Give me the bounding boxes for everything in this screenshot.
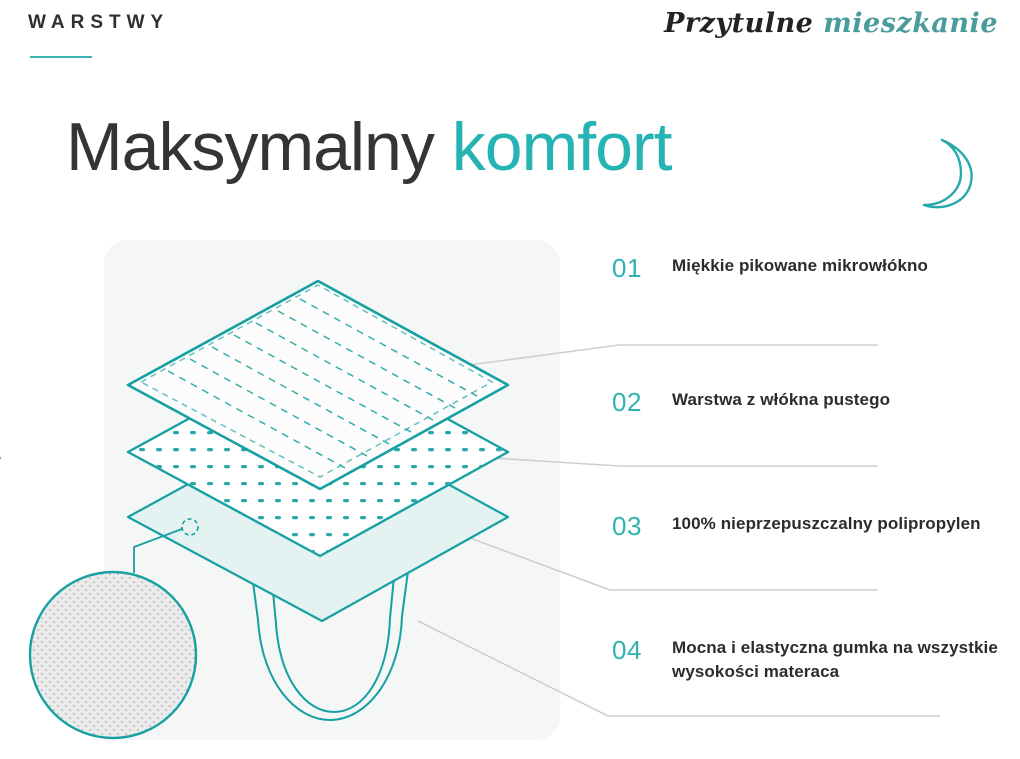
tagline: Przytulne mieszkanie [664, 8, 998, 39]
page-title-dark: Maksymalny [66, 109, 434, 185]
list-item-text: Mocna i elastyczna gumka na wszystkie wy… [672, 636, 1008, 684]
list-item-text: 100% nieprzepuszczalny polipropylen [672, 512, 981, 536]
diagram-panel [104, 240, 560, 740]
list-item-text: Miękkie pikowane mikrowłókno [672, 254, 928, 278]
tagline-part-two: mieszkanie [823, 8, 998, 39]
detail-label: Detal od spodu [0, 380, 2, 580]
list-item-text: Warstwa z włókna pustego [672, 388, 890, 412]
list-item[interactable]: 02 Warstwa z włókna pustego [612, 388, 890, 418]
list-item[interactable]: 01 Miękkie pikowane mikrowłókno [612, 254, 928, 284]
crescent-moon-icon [908, 136, 980, 212]
page-title: Maksymalny komfort [66, 108, 671, 186]
page-title-teal: komfort [452, 109, 672, 185]
infographic-page: WARSTWY Przytulne mieszkanie Maksymalny … [0, 0, 1020, 759]
list-item[interactable]: 03 100% nieprzepuszczalny polipropylen [612, 512, 981, 542]
list-item[interactable]: 04 Mocna i elastyczna gumka na wszystkie… [612, 636, 1008, 684]
tagline-part-one: Przytulne [664, 8, 813, 39]
list-item-number: 01 [612, 254, 658, 284]
list-item-number: 04 [612, 636, 658, 666]
brand-underline-rule [30, 56, 92, 58]
list-item-number: 03 [612, 512, 658, 542]
list-item-number: 02 [612, 388, 658, 418]
brand-logo: WARSTWY [28, 12, 169, 34]
